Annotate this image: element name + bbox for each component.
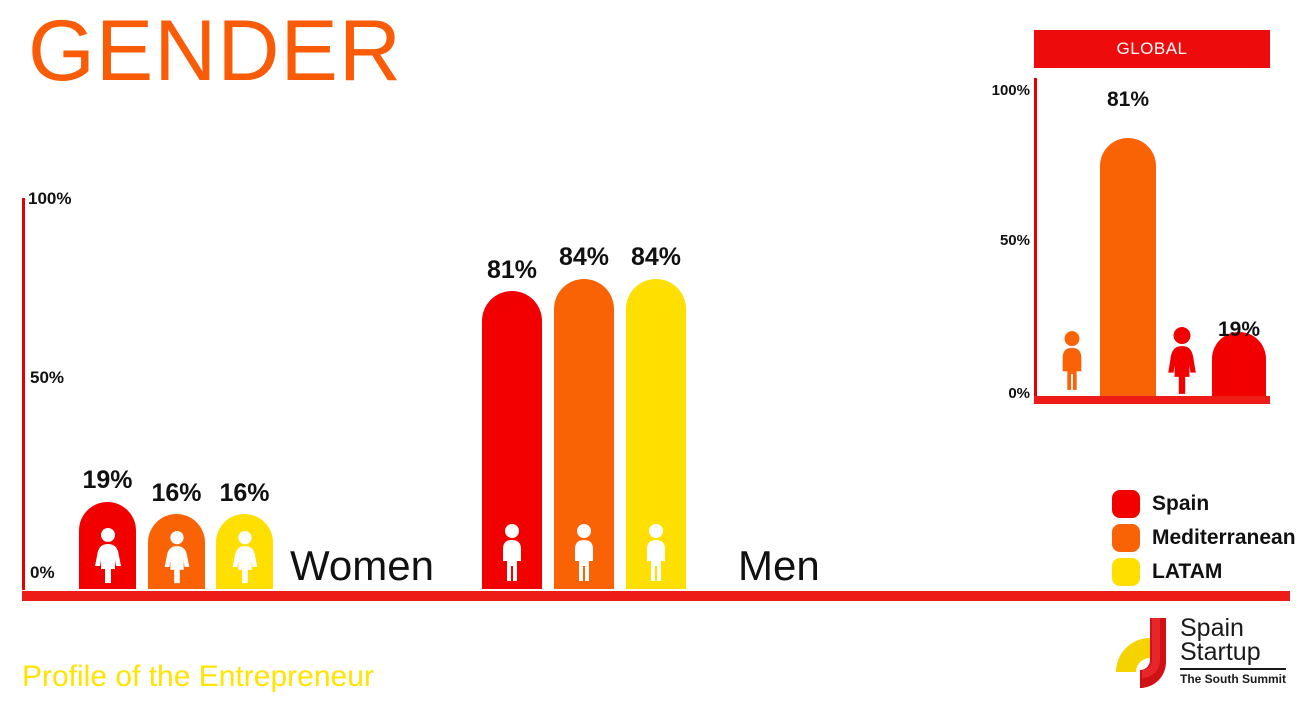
global-value-men: 81%	[1094, 88, 1162, 112]
male-pictogram	[497, 523, 527, 583]
infographic-canvas: GENDER 100% 50% 0% 19% 16% 16% Women	[0, 0, 1296, 706]
main-chart-y-axis	[22, 198, 25, 590]
bar-men-spain[interactable]	[482, 291, 542, 589]
spain-startup-logo: Spain Startup The South Summit	[1108, 612, 1288, 696]
global-value-women: 19%	[1206, 318, 1272, 342]
logo-divider	[1180, 668, 1286, 670]
bar-women-mediterranean[interactable]	[148, 514, 205, 589]
y-axis-tick-0: 0%	[30, 563, 55, 583]
value-label-men-spain: 81%	[480, 256, 544, 285]
page-title: GENDER	[28, 8, 402, 94]
legend-label-latam: LATAM	[1152, 560, 1222, 584]
male-pictogram	[1058, 328, 1086, 394]
global-y-tick-0: 0%	[982, 385, 1030, 402]
value-label-women-latam: 16%	[216, 479, 273, 508]
global-bar-men[interactable]	[1100, 138, 1156, 396]
global-y-axis	[1034, 78, 1037, 396]
global-panel: GLOBAL 100% 50% 0% 81% 19%	[1034, 30, 1270, 400]
value-label-women-spain: 19%	[79, 466, 136, 495]
footer-caption: Profile of the Entrepreneur	[22, 660, 374, 694]
male-pictogram	[569, 523, 599, 583]
legend-item-mediterranean[interactable]: Mediterranean	[1112, 522, 1296, 554]
value-label-men-latam: 84%	[624, 243, 688, 272]
bar-women-spain[interactable]	[79, 502, 136, 589]
y-axis-tick-100: 100%	[28, 189, 71, 209]
logo-swoosh-icon	[1108, 614, 1174, 692]
global-y-tick-50: 50%	[982, 232, 1030, 249]
legend-item-spain[interactable]: Spain	[1112, 488, 1296, 520]
legend-label-mediterranean: Mediterranean	[1152, 526, 1296, 550]
group-label-women: Women	[290, 542, 434, 590]
baseline-rule	[22, 591, 1290, 601]
global-panel-header: GLOBAL	[1034, 30, 1270, 68]
bar-women-latam[interactable]	[216, 514, 273, 589]
female-pictogram	[92, 527, 124, 585]
bar-men-mediterranean[interactable]	[554, 279, 614, 589]
legend-label-spain: Spain	[1152, 492, 1209, 516]
group-label-men: Men	[738, 542, 820, 590]
logo-word-startup: Startup	[1180, 640, 1261, 665]
legend-item-latam[interactable]: LATAM	[1112, 556, 1296, 588]
female-pictogram	[229, 530, 261, 585]
value-label-men-mediterranean: 84%	[552, 243, 616, 272]
legend: Spain Mediterranean LATAM	[1112, 488, 1296, 590]
bar-men-latam[interactable]	[626, 279, 686, 589]
global-y-tick-100: 100%	[982, 82, 1030, 99]
global-baseline-rule	[1034, 396, 1270, 404]
female-pictogram	[161, 530, 193, 585]
legend-swatch-spain	[1112, 490, 1140, 518]
legend-swatch-mediterranean	[1112, 524, 1140, 552]
value-label-women-mediterranean: 16%	[148, 479, 205, 508]
male-pictogram	[641, 523, 671, 583]
y-axis-tick-50: 50%	[30, 368, 64, 388]
logo-tagline: The South Summit	[1180, 672, 1286, 686]
female-pictogram	[1165, 326, 1199, 396]
legend-swatch-latam	[1112, 558, 1140, 586]
